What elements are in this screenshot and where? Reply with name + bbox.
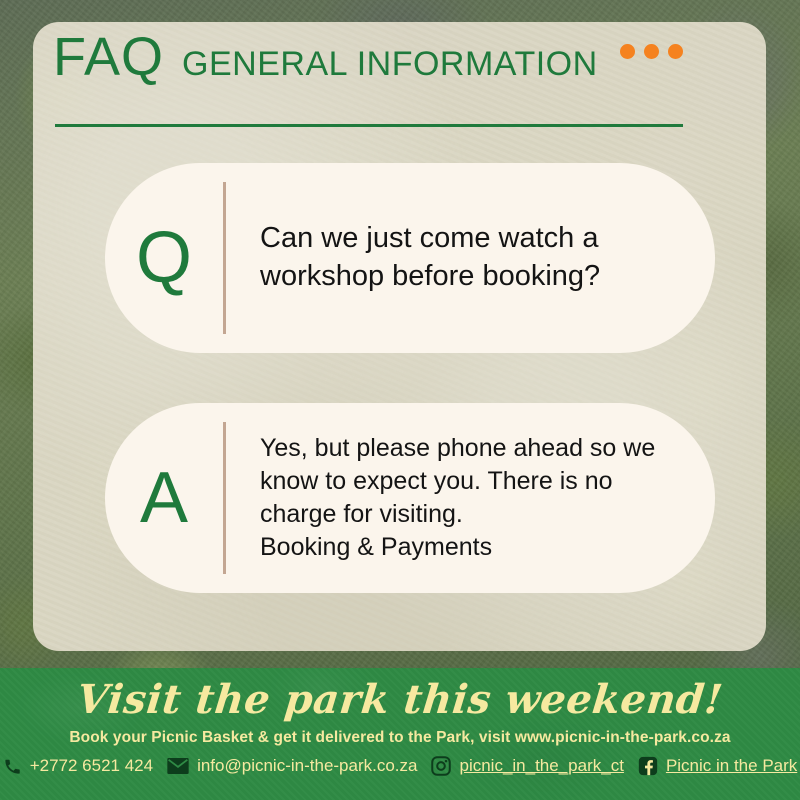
dot-icon-2 (644, 44, 659, 59)
page-title: FAQ (53, 30, 164, 84)
contact-phone[interactable]: +2772 6521 424 (3, 756, 153, 776)
footer-contact-row: +2772 6521 424 info@picnic-in-the-park.c… (0, 756, 800, 776)
decorative-dots (620, 44, 683, 59)
question-card: Q Can we just come watch a workshop befo… (105, 163, 715, 353)
contact-email[interactable]: info@picnic-in-the-park.co.za (167, 756, 417, 776)
contact-phone-label: +2772 6521 424 (30, 756, 153, 776)
footer-banner: Visit the park this weekend! Book your P… (0, 668, 800, 800)
header: FAQ GENERAL INFORMATION (53, 30, 736, 84)
dot-icon-3 (668, 44, 683, 59)
answer-text: Yes, but please phone ahead so we know t… (226, 432, 715, 564)
header-subtitle: GENERAL INFORMATION (182, 47, 598, 81)
dot-icon-1 (620, 44, 635, 59)
instagram-icon (431, 756, 451, 776)
question-text: Can we just come watch a workshop before… (226, 220, 715, 295)
contact-email-label: info@picnic-in-the-park.co.za (197, 756, 417, 776)
answer-letter: A (105, 462, 223, 534)
faq-poster: FAQ GENERAL INFORMATION Q Can we just co… (0, 0, 800, 800)
header-divider-rule (55, 124, 683, 127)
contact-instagram-label: picnic_in_the_park_ct (459, 756, 623, 776)
contact-instagram[interactable]: picnic_in_the_park_ct (431, 756, 623, 776)
email-icon (167, 758, 189, 774)
contact-facebook[interactable]: Picnic in the Park (638, 756, 797, 776)
footer-headline: Visit the park this weekend! (0, 676, 800, 723)
contact-facebook-label: Picnic in the Park (666, 756, 797, 776)
answer-card: A Yes, but please phone ahead so we know… (105, 403, 715, 593)
phone-icon (3, 757, 22, 776)
question-letter: Q (105, 222, 223, 294)
facebook-icon (638, 756, 658, 776)
footer-cta-line: Book your Picnic Basket & get it deliver… (0, 729, 800, 747)
